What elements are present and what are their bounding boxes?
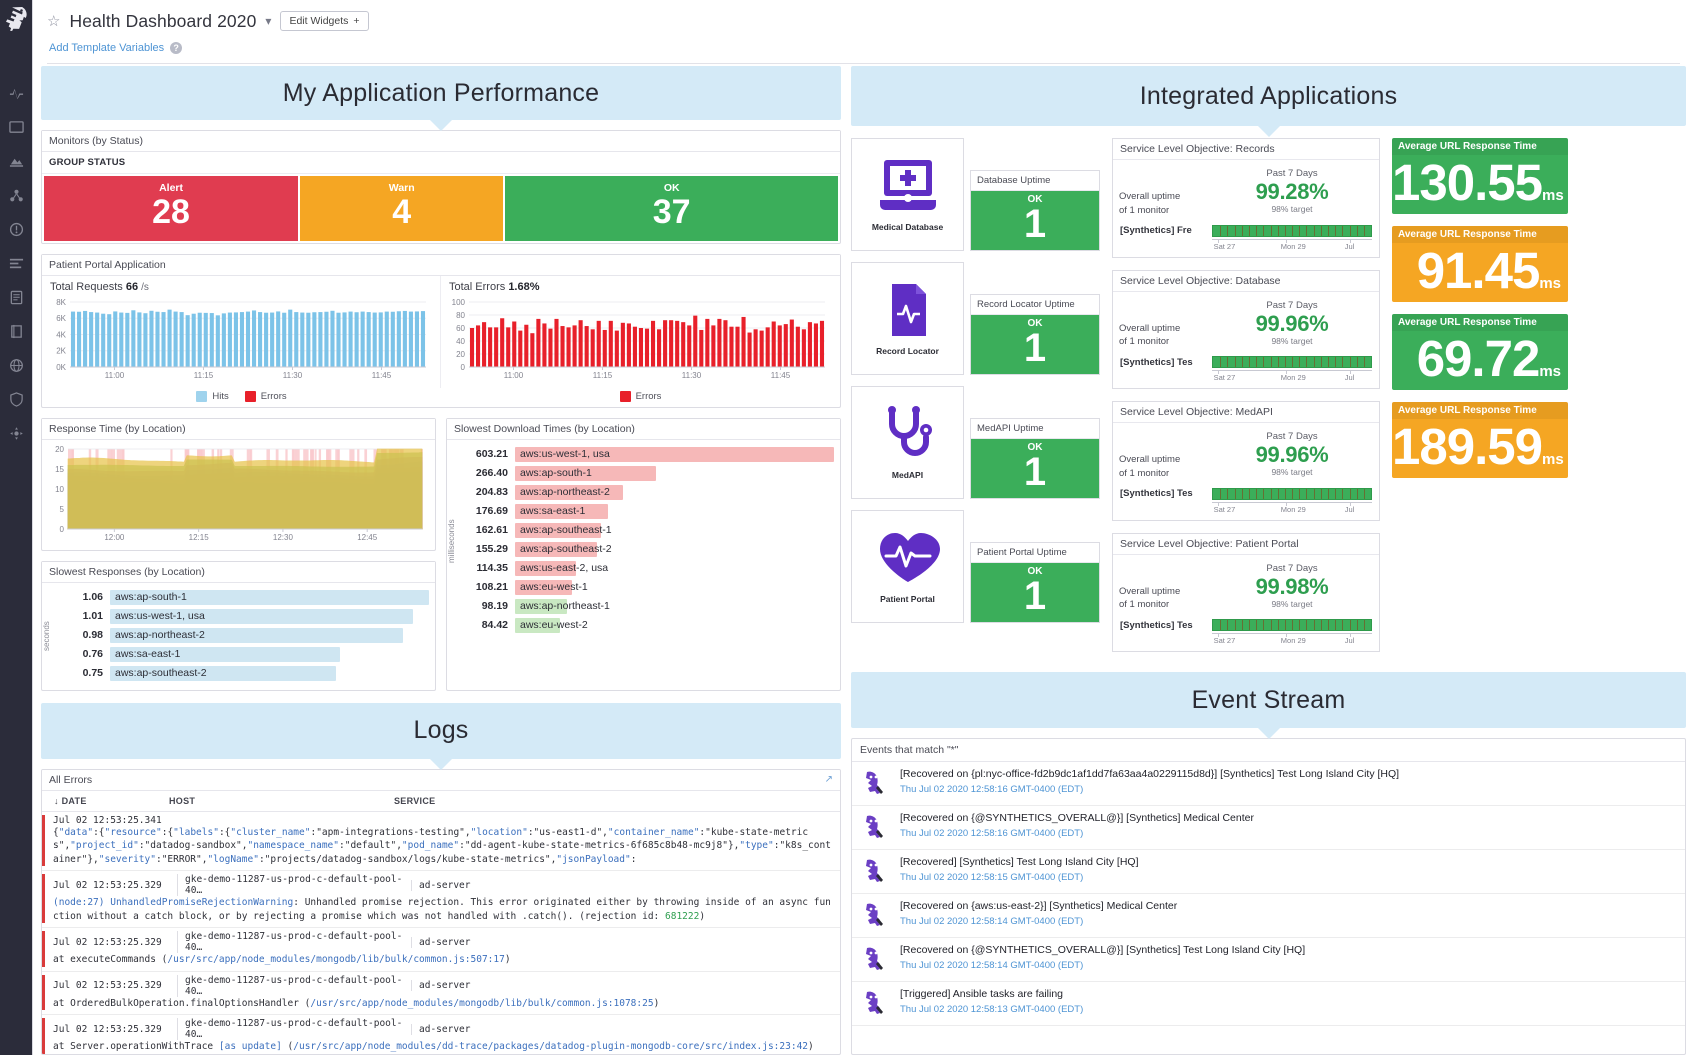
notebooks-icon[interactable] (7, 322, 25, 340)
slowest-response-value: 0.76 (58, 648, 110, 660)
slowest-download-track: aws:ap-southeast-2 (515, 542, 834, 557)
log-meta: Jul 02 12:53:25.341 (53, 815, 832, 826)
svg-text:80: 80 (456, 310, 465, 319)
slo-axis-label: Mon 29 (1281, 242, 1306, 251)
legend-left: Hits Errors (42, 388, 441, 407)
svg-text:40: 40 (456, 336, 465, 345)
medapi-stethoscope-icon (876, 406, 940, 467)
event-timestamp: Thu Jul 02 2020 12:58:16 GMT-0400 (EDT) (900, 828, 1677, 839)
uptime-title: Database Uptime (971, 171, 1099, 191)
slo-bar-tick (1242, 489, 1243, 500)
slowest-responses-widget: Slowest Responses (by Location) seconds … (41, 561, 436, 691)
url-response-widget[interactable]: Average URL Response Time130.55ms (1392, 138, 1568, 214)
slo-bar-tick (1249, 357, 1250, 368)
event-text: [Recovered on {@SYNTHETICS_OVERALL@}] [S… (900, 812, 1677, 839)
log-entry[interactable]: Jul 02 12:53:25.329gke-demo-11287-us-pro… (42, 972, 840, 1015)
mid-row: Response Time (by Location) 0510152012:0… (41, 418, 841, 691)
url-response-value: 130.55 (1392, 154, 1542, 211)
monitor-cell-alert[interactable]: Alert 28 (44, 176, 298, 241)
logs-col-date[interactable]: ↓ DATE (54, 796, 169, 806)
slo-bar-tick (1350, 489, 1351, 500)
slowest-responses-list: 1.06aws:ap-south-11.01aws:us-west-1, usa… (56, 583, 435, 690)
slo-bar-tick (1321, 489, 1322, 500)
slo-bar-tick (1328, 620, 1329, 631)
event-row[interactable]: [Recovered on {pl:nyc-office-fd2b9dc1af1… (852, 762, 1685, 806)
log-entry[interactable]: Jul 02 12:53:25.329gke-demo-11287-us-pro… (42, 1015, 840, 1055)
slowest-download-row[interactable]: 84.42aws:eu-west-2 (463, 616, 834, 635)
slowest-response-track: aws:ap-southeast-2 (110, 666, 429, 681)
slo-bar-tick (1292, 620, 1293, 631)
slowest-download-value: 204.83 (463, 486, 515, 498)
slo-title: Service Level Objective: MedAPI (1113, 402, 1379, 423)
slowest-download-label: aws:us-west-1, usa (520, 448, 610, 460)
app-row: Record LocatorRecord Locator UptimeOK1 (851, 262, 1100, 375)
monitor-cell-ok[interactable]: OK 37 (505, 176, 838, 241)
url-response-unit: ms (1539, 363, 1561, 380)
event-row[interactable]: [Recovered] [Synthetics] Test Long Islan… (852, 850, 1685, 894)
log-severity-bar (42, 874, 45, 923)
slowest-download-row[interactable]: 162.61aws:ap-southeast-1 (463, 521, 834, 540)
event-text: [Recovered] [Synthetics] Test Long Islan… (900, 856, 1677, 883)
slo-bar-tick (1220, 620, 1221, 631)
avatar (860, 944, 891, 975)
app-tile-label: MedAPI (892, 470, 923, 480)
slo-bar-tick (1299, 226, 1300, 237)
log-inner: Jul 02 12:53:25.329gke-demo-11287-us-pro… (53, 874, 832, 923)
log-entry[interactable]: Jul 02 12:53:25.329gke-demo-11287-us-pro… (42, 871, 840, 928)
total-requests-canvas[interactable]: 0K2K4K6K8K11:0011:1511:3011:45 (42, 296, 440, 388)
event-timestamp: Thu Jul 02 2020 12:58:14 GMT-0400 (EDT) (900, 960, 1677, 971)
logs-widget-title: All Errors (49, 774, 92, 786)
slo-monitor-row[interactable]: [Synthetics] Tes (1113, 485, 1379, 502)
slo-bar-tick (1263, 489, 1264, 500)
svg-text:6K: 6K (56, 314, 66, 323)
slo-axis: Sat 27Mon 29Jul (1212, 370, 1372, 384)
slo-bar-tick (1357, 620, 1358, 631)
slo-title: Service Level Objective: Records (1113, 139, 1379, 160)
slowest-download-value: 84.42 (463, 619, 515, 631)
slo-monitor-row[interactable]: [Synthetics] Tes (1113, 616, 1379, 633)
network-icon[interactable] (7, 356, 25, 374)
slo-bar-tick (1357, 226, 1358, 237)
slo-overall: Overall uptimeof 1 monitor (1119, 168, 1211, 218)
slo-bar-tick (1249, 489, 1250, 500)
slo-target: 98% target (1211, 336, 1373, 346)
slo-bar-tick (1235, 620, 1236, 631)
monitors-widget-header: Monitors (by Status) (42, 131, 840, 152)
slo-bar-tick (1271, 226, 1272, 237)
log-message: {"data":{"resource":{"labels":{"cluster_… (53, 826, 832, 866)
monitor-warn-value: 4 (300, 195, 503, 231)
slo-bar-tick (1342, 489, 1343, 500)
response-time-title: Response Time (by Location) (49, 423, 186, 435)
slo-bar-tick (1335, 357, 1336, 368)
slowest-download-track: aws:eu-west-2 (515, 618, 834, 633)
log-host: gke-demo-11287-us-prod-c-default-pool-40… (177, 1018, 411, 1040)
slo-bar-tick (1306, 226, 1307, 237)
slo-monitor-name: [Synthetics] Tes (1120, 488, 1212, 499)
app-tile-record-locator-icon[interactable]: Record Locator (851, 262, 964, 375)
event-timestamp: Thu Jul 02 2020 12:58:13 GMT-0400 (EDT) (900, 1004, 1677, 1015)
log-service: ad-server (411, 980, 470, 991)
slowest-download-track: aws:ap-south-1 (515, 466, 834, 481)
slowest-download-value: 108.21 (463, 581, 515, 593)
slo-target: 98% target (1211, 599, 1373, 609)
avatar (860, 768, 891, 799)
slowest-download-track: aws:eu-west-1 (515, 580, 834, 595)
log-service: ad-server (411, 1024, 470, 1035)
top-bar: ☆ Health Dashboard 2020 ▾ Edit Widgets +… (33, 0, 1694, 58)
banner-logs-text: Logs (413, 716, 468, 745)
log-inner: Jul 02 12:53:25.329gke-demo-11287-us-pro… (53, 975, 832, 1010)
banner-app-performance-text: My Application Performance (283, 79, 599, 108)
monitors-icon[interactable] (7, 220, 25, 238)
logs-widget: All Errors ↗ ↓ DATE HOST SERVICE Jul 02 … (41, 769, 841, 1055)
response-time-widget: Response Time (by Location) 0510152012:0… (41, 418, 436, 551)
slowest-downloads-axis-label: milliseconds (447, 440, 461, 642)
monitor-alert-value: 28 (44, 195, 298, 231)
url-response-title: Average URL Response Time (1392, 402, 1568, 419)
datadog-logo-icon[interactable] (2, 4, 30, 34)
mid-left: Response Time (by Location) 0510152012:0… (41, 418, 436, 691)
monitor-cell-warn[interactable]: Warn 4 (300, 176, 503, 241)
legend-errors-right[interactable]: Errors (620, 391, 662, 402)
slowest-download-value: 266.40 (463, 467, 515, 479)
slowest-responses-axis-label: seconds (42, 583, 56, 690)
slo-title: Service Level Objective: Database (1113, 271, 1379, 292)
uptime-value: 1 (971, 205, 1099, 243)
event-stream-widget: Events that match "*" [Recovered on {pl:… (851, 738, 1686, 1055)
total-errors-chart-panel: Total Errors 1.68% 02040608010011:0011:1… (441, 276, 840, 388)
slo-overall: Overall uptimeof 1 monitor (1119, 300, 1211, 350)
slo-bar-tick (1235, 226, 1236, 237)
total-errors-label: Total Errors (449, 281, 505, 293)
infrastructure-icon[interactable] (7, 152, 25, 170)
slo-bar-tick (1256, 357, 1257, 368)
slo-uptime-bar (1212, 488, 1372, 500)
add-template-variables-link[interactable]: Add Template Variables (49, 42, 164, 54)
slo-bar-tick (1256, 489, 1257, 500)
pulse-icon[interactable] (7, 84, 25, 102)
log-entry[interactable]: Jul 02 12:53:25.341{"data":{"resource":{… (42, 812, 840, 871)
slo-widget: Service Level Objective: Patient Portal … (1112, 533, 1380, 653)
log-date: Jul 02 12:53:25.329 (53, 980, 177, 991)
svg-text:2K: 2K (56, 346, 66, 355)
slowest-download-row[interactable]: 176.69aws:sa-east-1 (463, 502, 834, 521)
log-host: gke-demo-11287-us-prod-c-default-pool-40… (177, 931, 411, 953)
log-meta: Jul 02 12:53:25.329gke-demo-11287-us-pro… (53, 874, 832, 896)
slo-bar-tick (1335, 226, 1336, 237)
event-row[interactable]: [Recovered on {@SYNTHETICS_OVERALL@}] [S… (852, 806, 1685, 850)
slo-bar-tick (1342, 357, 1343, 368)
slo-axis-label: Mon 29 (1281, 636, 1306, 645)
edit-widgets-label: Edit Widgets (289, 15, 348, 27)
slowest-download-track: aws:sa-east-1 (515, 504, 834, 519)
svg-text:0K: 0K (56, 362, 66, 371)
slo-axis: Sat 27Mon 29Jul (1212, 502, 1372, 516)
logs-col-service[interactable]: SERVICE (394, 796, 834, 806)
slo-period: Past 7 Days (1211, 300, 1373, 311)
log-date: Jul 02 12:53:25.329 (53, 880, 177, 891)
app-tile-label: Record Locator (876, 346, 939, 356)
slo-summary: Past 7 Days 99.98% 98% target (1211, 563, 1373, 613)
url-response-widget[interactable]: Average URL Response Time69.72ms (1392, 314, 1568, 390)
legend-errors-left[interactable]: Errors (245, 391, 287, 402)
app-row: Medical DatabaseDatabase UptimeOK1 (851, 138, 1100, 251)
slo-bar-tick (1285, 620, 1286, 631)
slowest-download-track: aws:ap-northeast-1 (515, 599, 834, 614)
slo-overall: Overall uptimeof 1 monitor (1119, 563, 1211, 613)
url-response-value: 189.59 (1392, 418, 1542, 475)
main-area: ☆ Health Dashboard 2020 ▾ Edit Widgets +… (32, 0, 1694, 1055)
slo-bar-tick (1357, 489, 1358, 500)
svg-text:12:45: 12:45 (357, 533, 378, 542)
log-service: ad-server (411, 937, 470, 948)
integrations-icon[interactable] (7, 424, 25, 442)
banner-event-stream-text: Event Stream (1192, 686, 1346, 715)
slo-bar-tick (1220, 489, 1221, 500)
slo-bar-tick (1299, 489, 1300, 500)
svg-text:100: 100 (452, 297, 466, 306)
slo-monitor-row[interactable]: [Synthetics] Fre (1113, 222, 1379, 239)
slowest-response-row[interactable]: 0.98aws:ap-northeast-2 (58, 626, 429, 645)
patient-portal-header: Patient Portal Application (42, 255, 840, 276)
event-row[interactable]: [Triggered] Ansible tasks are failingThu… (852, 982, 1685, 1026)
slowest-response-row[interactable]: 0.75aws:ap-southeast-2 (58, 664, 429, 683)
star-icon[interactable]: ☆ (47, 12, 60, 30)
url-response-widget[interactable]: Average URL Response Time91.45ms (1392, 226, 1568, 302)
slo-column: Service Level Objective: Records Overall… (1112, 138, 1380, 652)
slowest-download-row[interactable]: 98.19aws:ap-northeast-1 (463, 597, 834, 616)
slowest-download-row[interactable]: 108.21aws:eu-west-1 (463, 578, 834, 597)
slo-bar-tick (1220, 226, 1221, 237)
legend-errors-swatch-right (620, 391, 631, 402)
slowest-downloads-title: Slowest Download Times (by Location) (454, 423, 635, 435)
log-entry[interactable]: Jul 02 12:53:25.329gke-demo-11287-us-pro… (42, 928, 840, 971)
url-response-body: 91.45ms (1392, 243, 1568, 302)
url-response-value: 91.45 (1417, 242, 1540, 299)
plus-icon: + (353, 15, 359, 27)
slo-summary: Past 7 Days 99.96% 98% target (1211, 431, 1373, 481)
log-severity-bar (42, 815, 45, 866)
slo-uptime-bar (1212, 619, 1372, 631)
slo-monitor-row[interactable]: [Synthetics] Tes (1113, 353, 1379, 370)
slo-widget: Service Level Objective: MedAPI Overall … (1112, 401, 1380, 521)
log-date: Jul 02 12:53:25.329 (53, 937, 177, 948)
legend-hits[interactable]: Hits (196, 391, 228, 402)
slo-bar-tick (1306, 357, 1307, 368)
slo-bar-tick (1292, 226, 1293, 237)
svg-text:11:15: 11:15 (194, 371, 214, 380)
slowest-download-label: aws:ap-south-1 (520, 467, 592, 479)
apm-icon[interactable] (7, 254, 25, 272)
slo-axis-label: Sat 27 (1214, 242, 1236, 251)
synthetics-icon[interactable] (7, 186, 25, 204)
slo-bar-tick (1357, 357, 1358, 368)
slowest-response-label: aws:us-west-1, usa (115, 610, 205, 622)
app-tile-label: Patient Portal (880, 594, 935, 604)
event-row[interactable]: [Recovered on {aws:us-east-2}] [Syntheti… (852, 894, 1685, 938)
event-row[interactable]: [Recovered on {@SYNTHETICS_OVERALL@}] [S… (852, 938, 1685, 982)
total-errors-canvas[interactable]: 02040608010011:0011:1511:3011:45 (441, 296, 840, 388)
slowest-download-track: aws:us-east-2, usa (515, 561, 834, 576)
slo-axis-label: Jul (1345, 505, 1355, 514)
slo-overall-line1: Overall uptime (1119, 322, 1211, 336)
svg-text:11:15: 11:15 (593, 371, 613, 380)
slowest-download-label: aws:ap-northeast-1 (520, 600, 610, 612)
total-errors-title: Total Errors 1.68% (441, 276, 840, 296)
slowest-download-row[interactable]: 114.35aws:us-east-2, usa (463, 559, 834, 578)
dashboard-icon[interactable] (7, 118, 25, 136)
banner-logs: Logs (41, 703, 841, 759)
logs-widget-header: All Errors ↗ (42, 770, 840, 791)
monitors-widget-title: Monitors (by Status) (49, 135, 143, 147)
slo-axis-label: Jul (1345, 636, 1355, 645)
help-icon[interactable]: ? (170, 42, 182, 54)
slowest-download-label: aws:ap-southeast-1 (520, 524, 612, 536)
slo-bar-tick (1314, 620, 1315, 631)
slowest-response-value: 0.98 (58, 629, 110, 641)
log-inner: Jul 02 12:53:25.341{"data":{"resource":{… (53, 815, 832, 866)
log-date: Jul 02 12:53:25.341 (53, 815, 177, 826)
uptime-title: Patient Portal Uptime (971, 543, 1099, 563)
svg-text:11:00: 11:00 (504, 371, 524, 380)
chevron-down-icon[interactable]: ▾ (265, 14, 271, 28)
svg-text:12:15: 12:15 (189, 533, 210, 542)
security-icon[interactable] (7, 390, 25, 408)
slowest-responses-title: Slowest Responses (by Location) (49, 566, 205, 578)
event-title: [Recovered on {@SYNTHETICS_OVERALL@}] [S… (900, 944, 1677, 958)
slo-bar-tick (1364, 620, 1365, 631)
uptime-body[interactable]: OK1 (971, 563, 1099, 622)
patient-portal-title: Patient Portal Application (49, 259, 166, 271)
uptime-value: 1 (971, 577, 1099, 615)
slowest-response-value: 0.75 (58, 667, 110, 679)
slowest-response-row[interactable]: 1.06aws:ap-south-1 (58, 588, 429, 607)
slo-bar-tick (1271, 357, 1272, 368)
event-title: [Recovered] [Synthetics] Test Long Islan… (900, 856, 1677, 870)
slo-bar-tick (1328, 226, 1329, 237)
slo-overall-line1: Overall uptime (1119, 453, 1211, 467)
slowest-download-row[interactable]: 204.83aws:ap-northeast-2 (463, 483, 834, 502)
slo-bar-tick (1328, 489, 1329, 500)
avatar (860, 900, 891, 931)
slowest-response-row[interactable]: 1.01aws:us-west-1, usa (58, 607, 429, 626)
slo-body: Overall uptimeof 1 monitor Past 7 Days 9… (1113, 292, 1379, 354)
url-response-unit: ms (1542, 451, 1564, 468)
response-time-canvas[interactable]: 0510152012:0012:1512:3012:45 (42, 440, 435, 550)
slowest-download-row[interactable]: 155.29aws:ap-southeast-2 (463, 540, 834, 559)
slo-bar-tick (1242, 357, 1243, 368)
slo-bar-tick (1342, 226, 1343, 237)
banner-integrated-applications-text: Integrated Applications (1140, 82, 1398, 111)
slo-overall-line1: Overall uptime (1119, 190, 1211, 204)
slo-bar-tick (1342, 620, 1343, 631)
slowest-response-value: 1.06 (58, 591, 110, 603)
slowest-download-label: aws:ap-southeast-2 (520, 543, 612, 555)
title-row: ☆ Health Dashboard 2020 ▾ Edit Widgets + (47, 8, 1680, 34)
logs-list: Jul 02 12:53:25.341{"data":{"resource":{… (42, 812, 840, 1055)
monitor-ok-value: 37 (505, 195, 838, 231)
url-response-title: Average URL Response Time (1392, 226, 1568, 243)
event-title: [Recovered on {aws:us-east-2}] [Syntheti… (900, 900, 1677, 914)
slowest-download-value: 176.69 (463, 505, 515, 517)
slowest-response-label: aws:ap-southeast-2 (115, 667, 207, 679)
slowest-download-row[interactable]: 603.21aws:us-west-1, usa (463, 445, 834, 464)
slo-percent: 99.96% (1211, 311, 1373, 337)
slo-axis-label: Jul (1345, 373, 1355, 382)
slowest-download-row[interactable]: 266.40aws:ap-south-1 (463, 464, 834, 483)
slo-bar-tick (1364, 226, 1365, 237)
log-meta: Jul 02 12:53:25.329gke-demo-11287-us-pro… (53, 975, 832, 997)
slo-axis-label: Mon 29 (1281, 505, 1306, 514)
slo-bar-tick (1235, 489, 1236, 500)
slo-axis-label: Sat 27 (1214, 636, 1236, 645)
uptime-body[interactable]: OK1 (971, 191, 1099, 250)
patient-portal-charts: Total Requests 66 /s 0K2K4K6K8K11:0011:1… (42, 276, 840, 388)
app-row: MedAPIMedAPI UptimeOK1 (851, 386, 1100, 499)
logs-col-host[interactable]: HOST (169, 796, 394, 806)
slo-body: Overall uptimeof 1 monitor Past 7 Days 9… (1113, 160, 1379, 222)
apps-icon-column: Medical DatabaseDatabase UptimeOK1Record… (851, 138, 1100, 652)
slo-bar-tick (1278, 357, 1279, 368)
slo-bar-tick (1249, 226, 1250, 237)
slo-bar-tick (1350, 620, 1351, 631)
uptime-body[interactable]: OK1 (971, 315, 1099, 374)
log-meta: Jul 02 12:53:25.329gke-demo-11287-us-pro… (53, 931, 832, 953)
uptime-body[interactable]: OK1 (971, 439, 1099, 498)
slowest-download-value: 98.19 (463, 600, 515, 612)
svg-text:0: 0 (461, 362, 466, 371)
slo-bar-tick (1299, 357, 1300, 368)
slo-bar-tick (1364, 489, 1365, 500)
slo-bar-tick (1306, 620, 1307, 631)
log-severity-bar (42, 975, 45, 1010)
slo-bar-tick (1328, 357, 1329, 368)
svg-text:12:30: 12:30 (273, 533, 294, 542)
app-tile-patient-portal-heart-icon[interactable]: Patient Portal (851, 510, 964, 623)
slo-axis-label: Sat 27 (1214, 373, 1236, 382)
svg-text:12:00: 12:00 (104, 533, 125, 542)
app-tile-medical-database-icon[interactable]: Medical Database (851, 138, 964, 251)
slo-overall-line2: of 1 monitor (1119, 467, 1211, 481)
svg-text:20: 20 (456, 349, 465, 358)
slowest-responses-header: Slowest Responses (by Location) (42, 562, 435, 583)
slowest-response-row[interactable]: 0.76aws:sa-east-1 (58, 645, 429, 664)
url-response-body: 69.72ms (1392, 331, 1568, 390)
svg-text:11:45: 11:45 (372, 371, 392, 380)
monitor-status-row: Alert 28 Warn 4 OK 37 (42, 174, 840, 243)
logs-icon[interactable] (7, 288, 25, 306)
slowest-response-track: aws:sa-east-1 (110, 647, 429, 662)
slo-bar-tick (1256, 620, 1257, 631)
edit-widgets-button[interactable]: Edit Widgets + (280, 11, 368, 31)
slo-bar-tick (1263, 226, 1264, 237)
logs-column-headers: ↓ DATE HOST SERVICE (42, 791, 840, 812)
url-response-unit: ms (1542, 187, 1564, 204)
external-link-icon[interactable]: ↗ (825, 774, 833, 785)
log-host: gke-demo-11287-us-prod-c-default-pool-40… (177, 874, 411, 896)
avatar (860, 856, 891, 887)
slo-bar-tick (1227, 620, 1228, 631)
slowest-response-track: aws:ap-south-1 (110, 590, 429, 605)
slo-monitor-name: [Synthetics] Tes (1120, 620, 1212, 631)
app-tile-label: Medical Database (872, 222, 943, 232)
url-response-column: Average URL Response Time130.55msAverage… (1392, 138, 1568, 652)
url-response-widget[interactable]: Average URL Response Time189.59ms (1392, 402, 1568, 478)
app-tile-medapi-stethoscope-icon[interactable]: MedAPI (851, 386, 964, 499)
slo-monitor-name: [Synthetics] Fre (1120, 225, 1212, 236)
